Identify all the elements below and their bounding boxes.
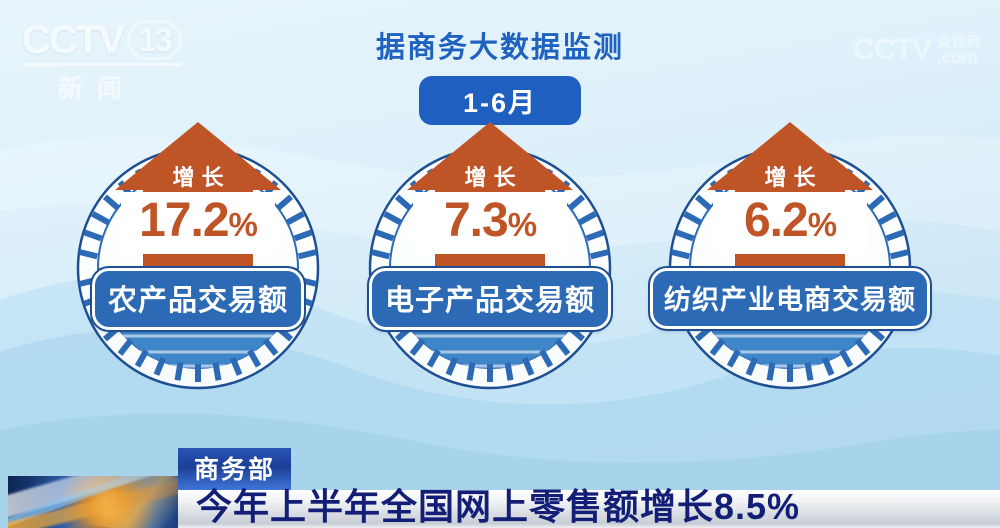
broadcast-graphic: CCTV13 新闻 CCTV 央视网 .com 据商务大数据监测 1-6月 xyxy=(0,0,1000,528)
growth-value-box: 17.2% xyxy=(121,192,275,254)
header: 据商务大数据监测 1-6月 xyxy=(0,24,1000,125)
growth-label: 增长 xyxy=(705,160,875,192)
category-label: 电子产品交易额 xyxy=(369,268,611,330)
lower-third: 商务部 今年上半年全国网上零售额增长8.5% xyxy=(0,458,1000,528)
growth-label: 增长 xyxy=(113,160,283,192)
category-label: 纺织产业电商交易额 xyxy=(650,268,930,329)
statistic-units: 增长 17.2% 农产品交易额 xyxy=(0,118,1000,418)
growth-value-box: 6.2% xyxy=(713,192,867,254)
statistic-unit: 增长 7.3% 电子产品交易额 xyxy=(340,118,640,418)
headline-text: 今年上半年全国网上零售额增长8.5% xyxy=(196,480,800,528)
growth-value: 6.2% xyxy=(744,197,836,249)
growth-label: 增长 xyxy=(405,160,575,192)
statistic-unit: 增长 6.2% 纺织产业电商交易额 xyxy=(640,118,940,418)
category-label: 农产品交易额 xyxy=(92,268,304,330)
globe-graphic xyxy=(8,476,178,528)
growth-value: 17.2% xyxy=(139,197,257,249)
page-title: 据商务大数据监测 xyxy=(0,24,1000,66)
growth-value: 7.3% xyxy=(444,197,536,249)
statistic-unit: 增长 17.2% 农产品交易额 xyxy=(48,118,348,418)
growth-value-box: 7.3% xyxy=(413,192,567,254)
